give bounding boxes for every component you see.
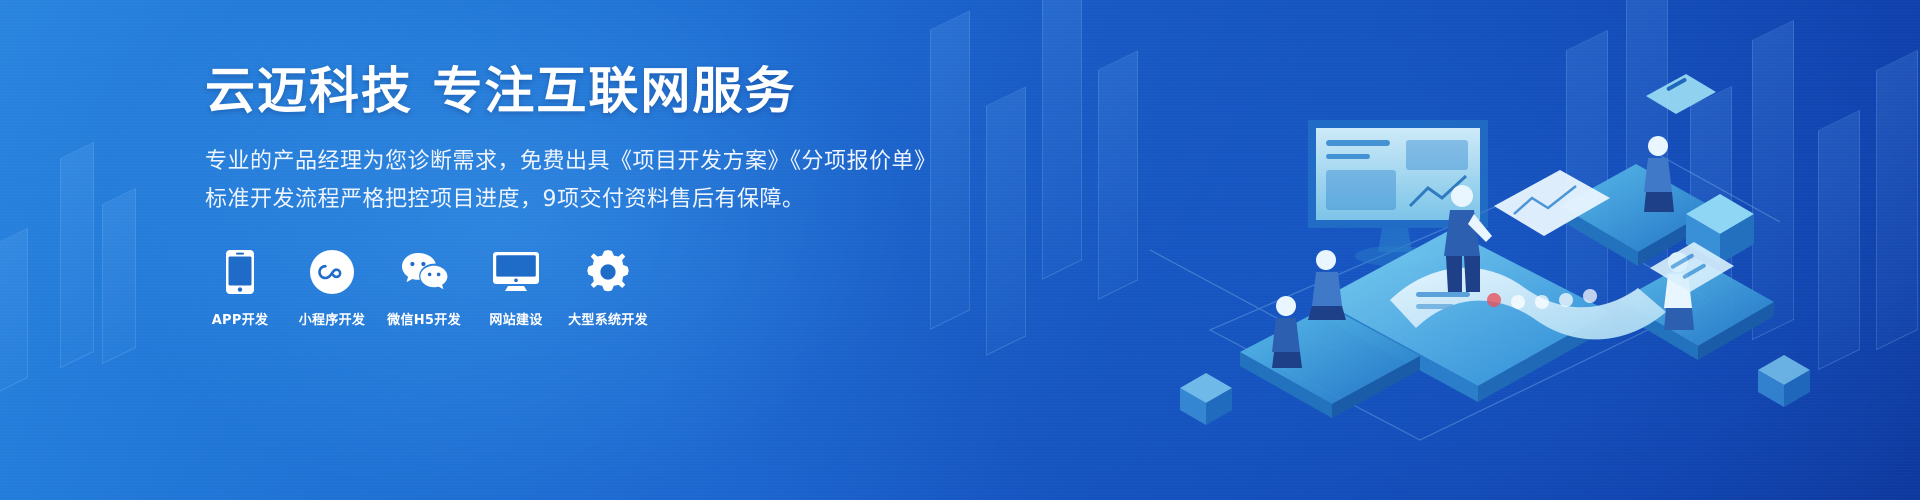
page-title: 云迈科技 专注互联网服务: [205, 62, 905, 121]
illustration-cube-c: [1758, 355, 1810, 407]
service-label: 微信H5开发: [387, 309, 461, 328]
service-label: 小程序开发: [299, 309, 366, 328]
gear-icon: [586, 249, 630, 295]
subtitle-line-1: 专业的产品经理为您诊断需求，免费出具《项目开发方案》《分项报价单》: [205, 143, 905, 181]
monitor-icon: [493, 249, 539, 295]
banner-content: 云迈科技 专注互联网服务 专业的产品经理为您诊断需求，免费出具《项目开发方案》《…: [205, 62, 905, 328]
service-label: APP开发: [212, 309, 269, 328]
illustration-person-left-lower: [1272, 296, 1302, 368]
illustration-cube-b: [1180, 373, 1232, 425]
decorative-bar: [0, 228, 28, 395]
wechat-icon: [400, 249, 448, 295]
decorative-bar: [986, 86, 1026, 356]
hero-banner: 云迈科技 专注互联网服务 专业的产品经理为您诊断需求，免费出具《项目开发方案》《…: [0, 0, 1920, 500]
decorative-bar: [1042, 0, 1082, 280]
service-item-large-system[interactable]: 大型系统开发: [573, 249, 643, 328]
decorative-bar: [1876, 50, 1918, 350]
service-item-app[interactable]: APP开发: [205, 249, 275, 328]
decorative-bar: [60, 142, 94, 369]
service-label: 网站建设: [489, 309, 542, 328]
service-item-website[interactable]: 网站建设: [481, 249, 551, 328]
subtitle-line-2: 标准开发流程严格把控项目进度，9项交付资料售后有保障。: [205, 181, 905, 219]
service-label: 大型系统开发: [568, 309, 648, 328]
mobile-phone-icon: [226, 249, 254, 295]
decorative-bar: [102, 188, 136, 365]
service-list: APP开发 小程序开发: [205, 249, 905, 328]
banner-subtitle: 专业的产品经理为您诊断需求，免费出具《项目开发方案》《分项报价单》 标准开发流程…: [205, 143, 905, 219]
illustration-person-right-upper: [1644, 136, 1674, 212]
hero-illustration: [1090, 0, 1850, 500]
mini-program-icon: [310, 249, 354, 295]
service-item-mini-program[interactable]: 小程序开发: [297, 249, 367, 328]
illustration-floating-chip-a: [1646, 74, 1716, 114]
service-item-wechat-h5[interactable]: 微信H5开发: [389, 249, 459, 328]
